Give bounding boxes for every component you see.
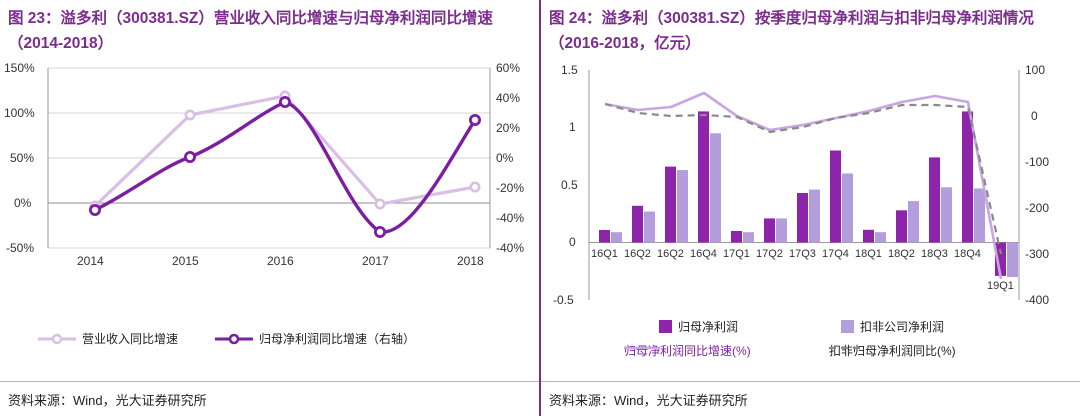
legend-swatch-deducted-netprofit [841, 320, 854, 333]
y2-tick-neg400: -400 [1025, 293, 1049, 307]
figure-23-source-bar: 资料来源：Wind，光大证券研究所 [0, 381, 539, 416]
y2-tick-neg300: -300 [1025, 247, 1049, 261]
figure-24-legend: 归母净利润 扣非公司净利润 归母净利润同比增速(%) 扣非归母净利润同比(%) [541, 318, 1080, 366]
legend-label-deducted-netprofit: 扣非公司净利润 [860, 318, 944, 335]
x-tick-18q1: 18Q1 [855, 248, 882, 260]
legend-line-revenue-icon [38, 332, 78, 346]
figure-23-title: 图 23：溢多利（300381.SZ）营业收入同比增速与归母净利润同比增速（20… [8, 6, 528, 56]
figure-23-panel: 图 23：溢多利（300381.SZ）营业收入同比增速与归母净利润同比增速（20… [0, 0, 539, 416]
x-tick-18q3: 18Q3 [921, 248, 948, 260]
y-tick-zero: 0 [569, 235, 576, 249]
x-tick-18q2: 18Q2 [888, 248, 915, 260]
figure-24-chart: 1.5 1 0.5 0 -0.5 100 0 -100 -200 -300 -4… [541, 58, 1080, 308]
y-tick-0: 0% [14, 196, 31, 210]
y-tick-neg0p5: -0.5 [553, 293, 574, 307]
y-tick-0p5: 0.5 [561, 178, 578, 192]
y-tick-50: 50% [10, 151, 34, 165]
legend-label-netprofit: 归母净利润 [678, 318, 738, 335]
figure-23-chart: 150% 100% 50% 0% -50% 60% 40% 20% 0% -20… [0, 58, 539, 308]
page-root: 图 23：溢多利（300381.SZ）营业收入同比增速与归母净利润同比增速（20… [0, 0, 1080, 416]
legend-item-netprofit-growth: 归母净利润同比增速(%) [624, 342, 751, 359]
y2-tick-neg200: -200 [1025, 201, 1049, 215]
x-tick-16q4: 16Q4 [690, 248, 717, 260]
y2-tick-0: -20% [496, 181, 524, 195]
x-tick-17q3: 17Q3 [789, 248, 816, 260]
x-tick-2014: 2014 [77, 254, 104, 268]
x-tick-2018: 2018 [457, 254, 484, 268]
legend-label-netprofit-growth: 归母净利润同比增速（右轴） [259, 330, 415, 347]
legend-item-deducted-netprofit: 扣非公司净利润 [841, 318, 944, 335]
x-tick-16q2: 16Q2 [624, 248, 651, 260]
x-tick-2017: 2017 [362, 254, 389, 268]
figure-24-source-bar: 资料来源：Wind，光大证券研究所 [541, 381, 1080, 416]
legend-item-netprofit-growth: 归母净利润同比增速（右轴） [215, 330, 415, 347]
x-tick-2016: 2016 [267, 254, 294, 268]
y-tick-150: 150% [4, 61, 35, 75]
y2-tick-neg100: -100 [1025, 155, 1049, 169]
y-tick-1p5: 1.5 [561, 63, 578, 77]
legend-line-growth-icon [624, 342, 662, 354]
figure-23-svg [0, 58, 539, 308]
y2-tick-neg40: -40% [496, 241, 524, 255]
y2-tick-neg20: -40% [496, 211, 524, 225]
x-tick-18q4: 18Q4 [954, 248, 981, 260]
figure-24-source: 资料来源：Wind，光大证券研究所 [549, 390, 748, 409]
y2-tick-100: 100 [1025, 63, 1045, 77]
series-netprofit-growth-line [95, 102, 475, 232]
x-tick-16q1: 16Q1 [591, 248, 618, 260]
y-tick-100: 100% [4, 106, 35, 120]
x-tick-16q3: 16Q2 [657, 248, 684, 260]
legend-item-netprofit: 归母净利润 [659, 318, 738, 335]
x-tick-17q2: 17Q2 [756, 248, 783, 260]
legend-line-netprofit-icon [215, 332, 255, 346]
figure-23-legend: 营业收入同比增速 归母净利润同比增速（右轴） [0, 330, 539, 354]
figure-24-title: 图 24：溢多利（300381.SZ）按季度归母净利润与扣非归母净利润情况（20… [549, 6, 1069, 56]
x-tick-17q4: 17Q4 [822, 248, 849, 260]
legend-item-deducted-growth: 扣非归母净利润同比(%) [829, 342, 956, 359]
y-tick-1: 1 [569, 120, 576, 134]
figure-24-panel: 图 24：溢多利（300381.SZ）按季度归母净利润与扣非归母净利润情况（20… [541, 0, 1080, 416]
x-tick-19q1: 19Q1 [987, 280, 1014, 292]
x-tick-2015: 2015 [172, 254, 199, 268]
figure-23-source: 资料来源：Wind，光大证券研究所 [8, 390, 207, 409]
x-tick-17q1: 17Q1 [723, 248, 750, 260]
y-tick-neg50: -50% [6, 241, 34, 255]
y2-tick-80: 60% [496, 61, 520, 75]
y2-tick-20: 0% [496, 151, 513, 165]
figure-24-svg [541, 58, 1080, 308]
legend-label-revenue-growth: 营业收入同比增速 [82, 330, 178, 347]
legend-item-revenue-growth: 营业收入同比增速 [38, 330, 178, 347]
y2-tick-40: 20% [496, 121, 520, 135]
y2-tick-zero: 0 [1031, 109, 1038, 123]
legend-dashed-growth-icon [829, 342, 867, 354]
y2-tick-60: 40% [496, 91, 520, 105]
legend-swatch-netprofit [659, 320, 672, 333]
